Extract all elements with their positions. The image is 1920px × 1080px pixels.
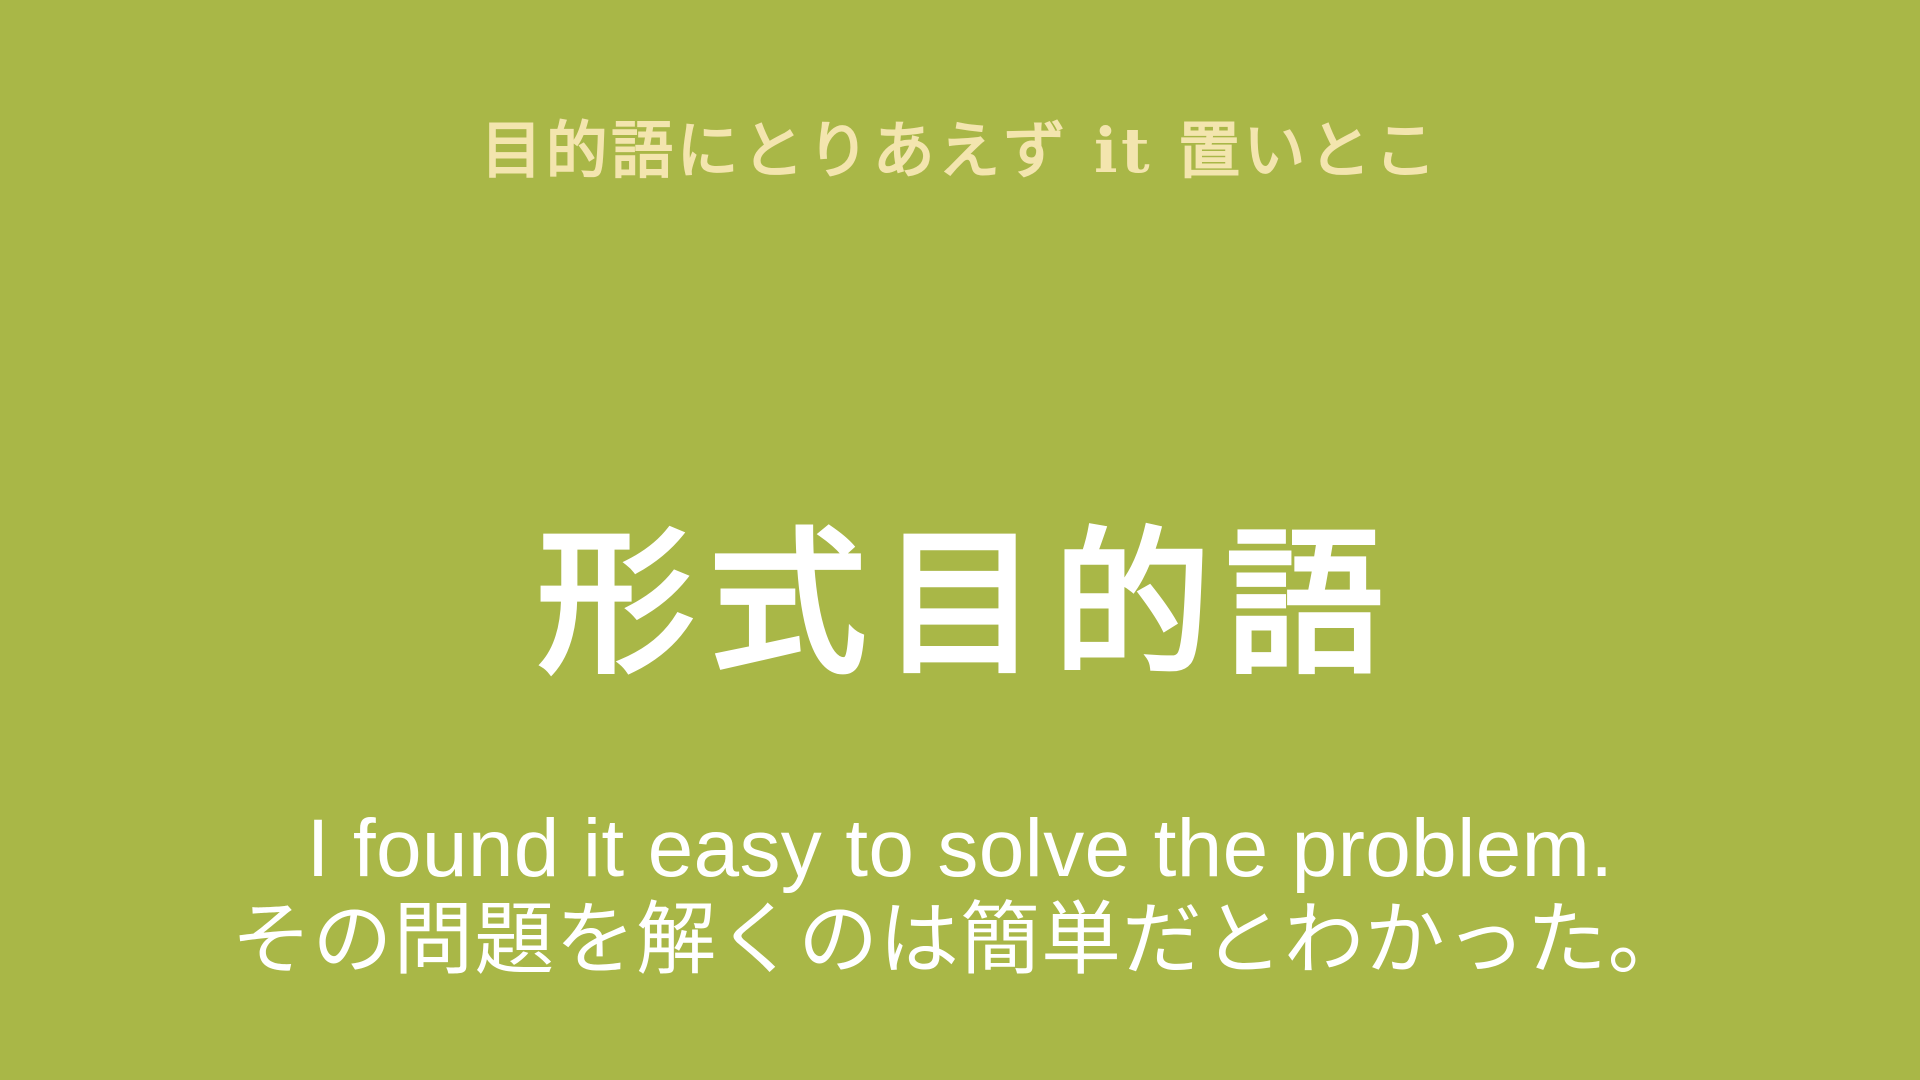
- example-sentence-english: I found it easy to solve the problem.: [0, 806, 1920, 891]
- slide-canvas: 目的語にとりあえず it 置いとこ 形式目的語 I found it easy …: [0, 0, 1920, 1080]
- slide-title: 形式目的語: [0, 526, 1920, 684]
- example-sentence-block: I found it easy to solve the problem. その…: [0, 806, 1920, 985]
- slide-subtitle: 目的語にとりあえず it 置いとこ: [0, 120, 1920, 182]
- example-sentence-japanese: その問題を解くのは簡単だとわかった。: [0, 895, 1920, 985]
